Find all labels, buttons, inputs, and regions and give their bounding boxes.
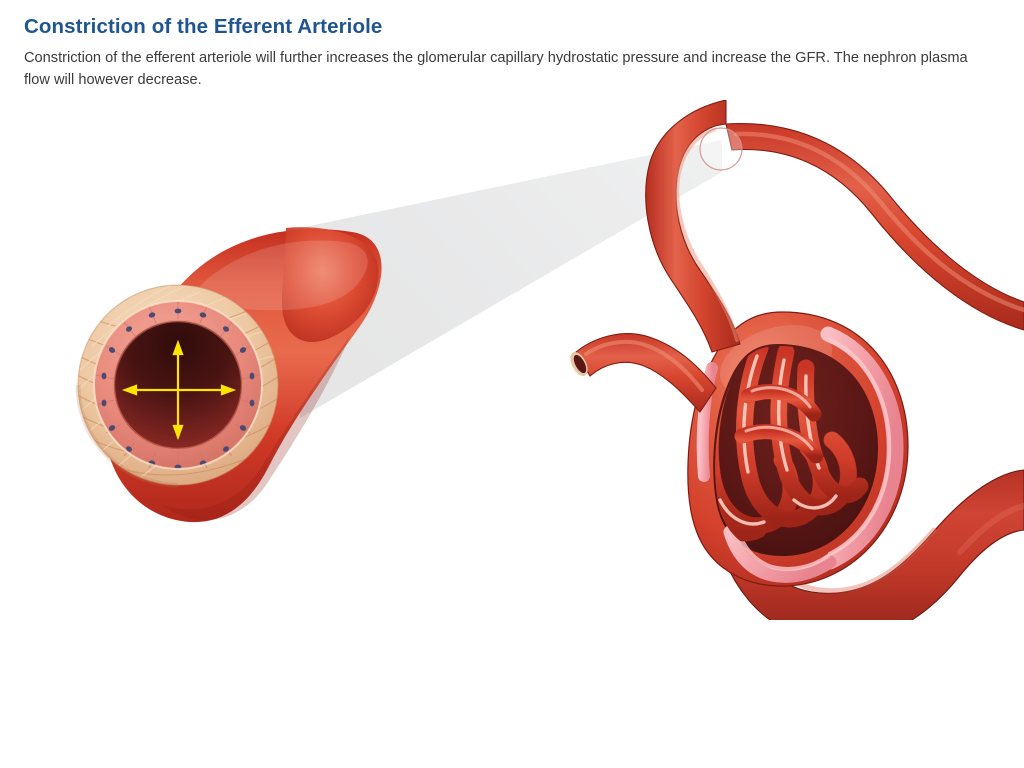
slide-root: Constriction of the Efferent Arteriole C… xyxy=(0,0,1024,768)
illustration-svg xyxy=(0,100,1024,620)
magnifier-circle xyxy=(700,128,742,170)
text-block: Constriction of the Efferent Arteriole C… xyxy=(24,14,976,91)
anatomy-illustration xyxy=(0,100,1024,620)
bowmans-capsule xyxy=(688,312,908,586)
page-title: Constriction of the Efferent Arteriole xyxy=(24,14,976,40)
page-description: Constriction of the efferent arteriole w… xyxy=(24,48,974,91)
efferent-arteriole xyxy=(646,100,1024,352)
afferent-arteriole xyxy=(567,334,716,412)
